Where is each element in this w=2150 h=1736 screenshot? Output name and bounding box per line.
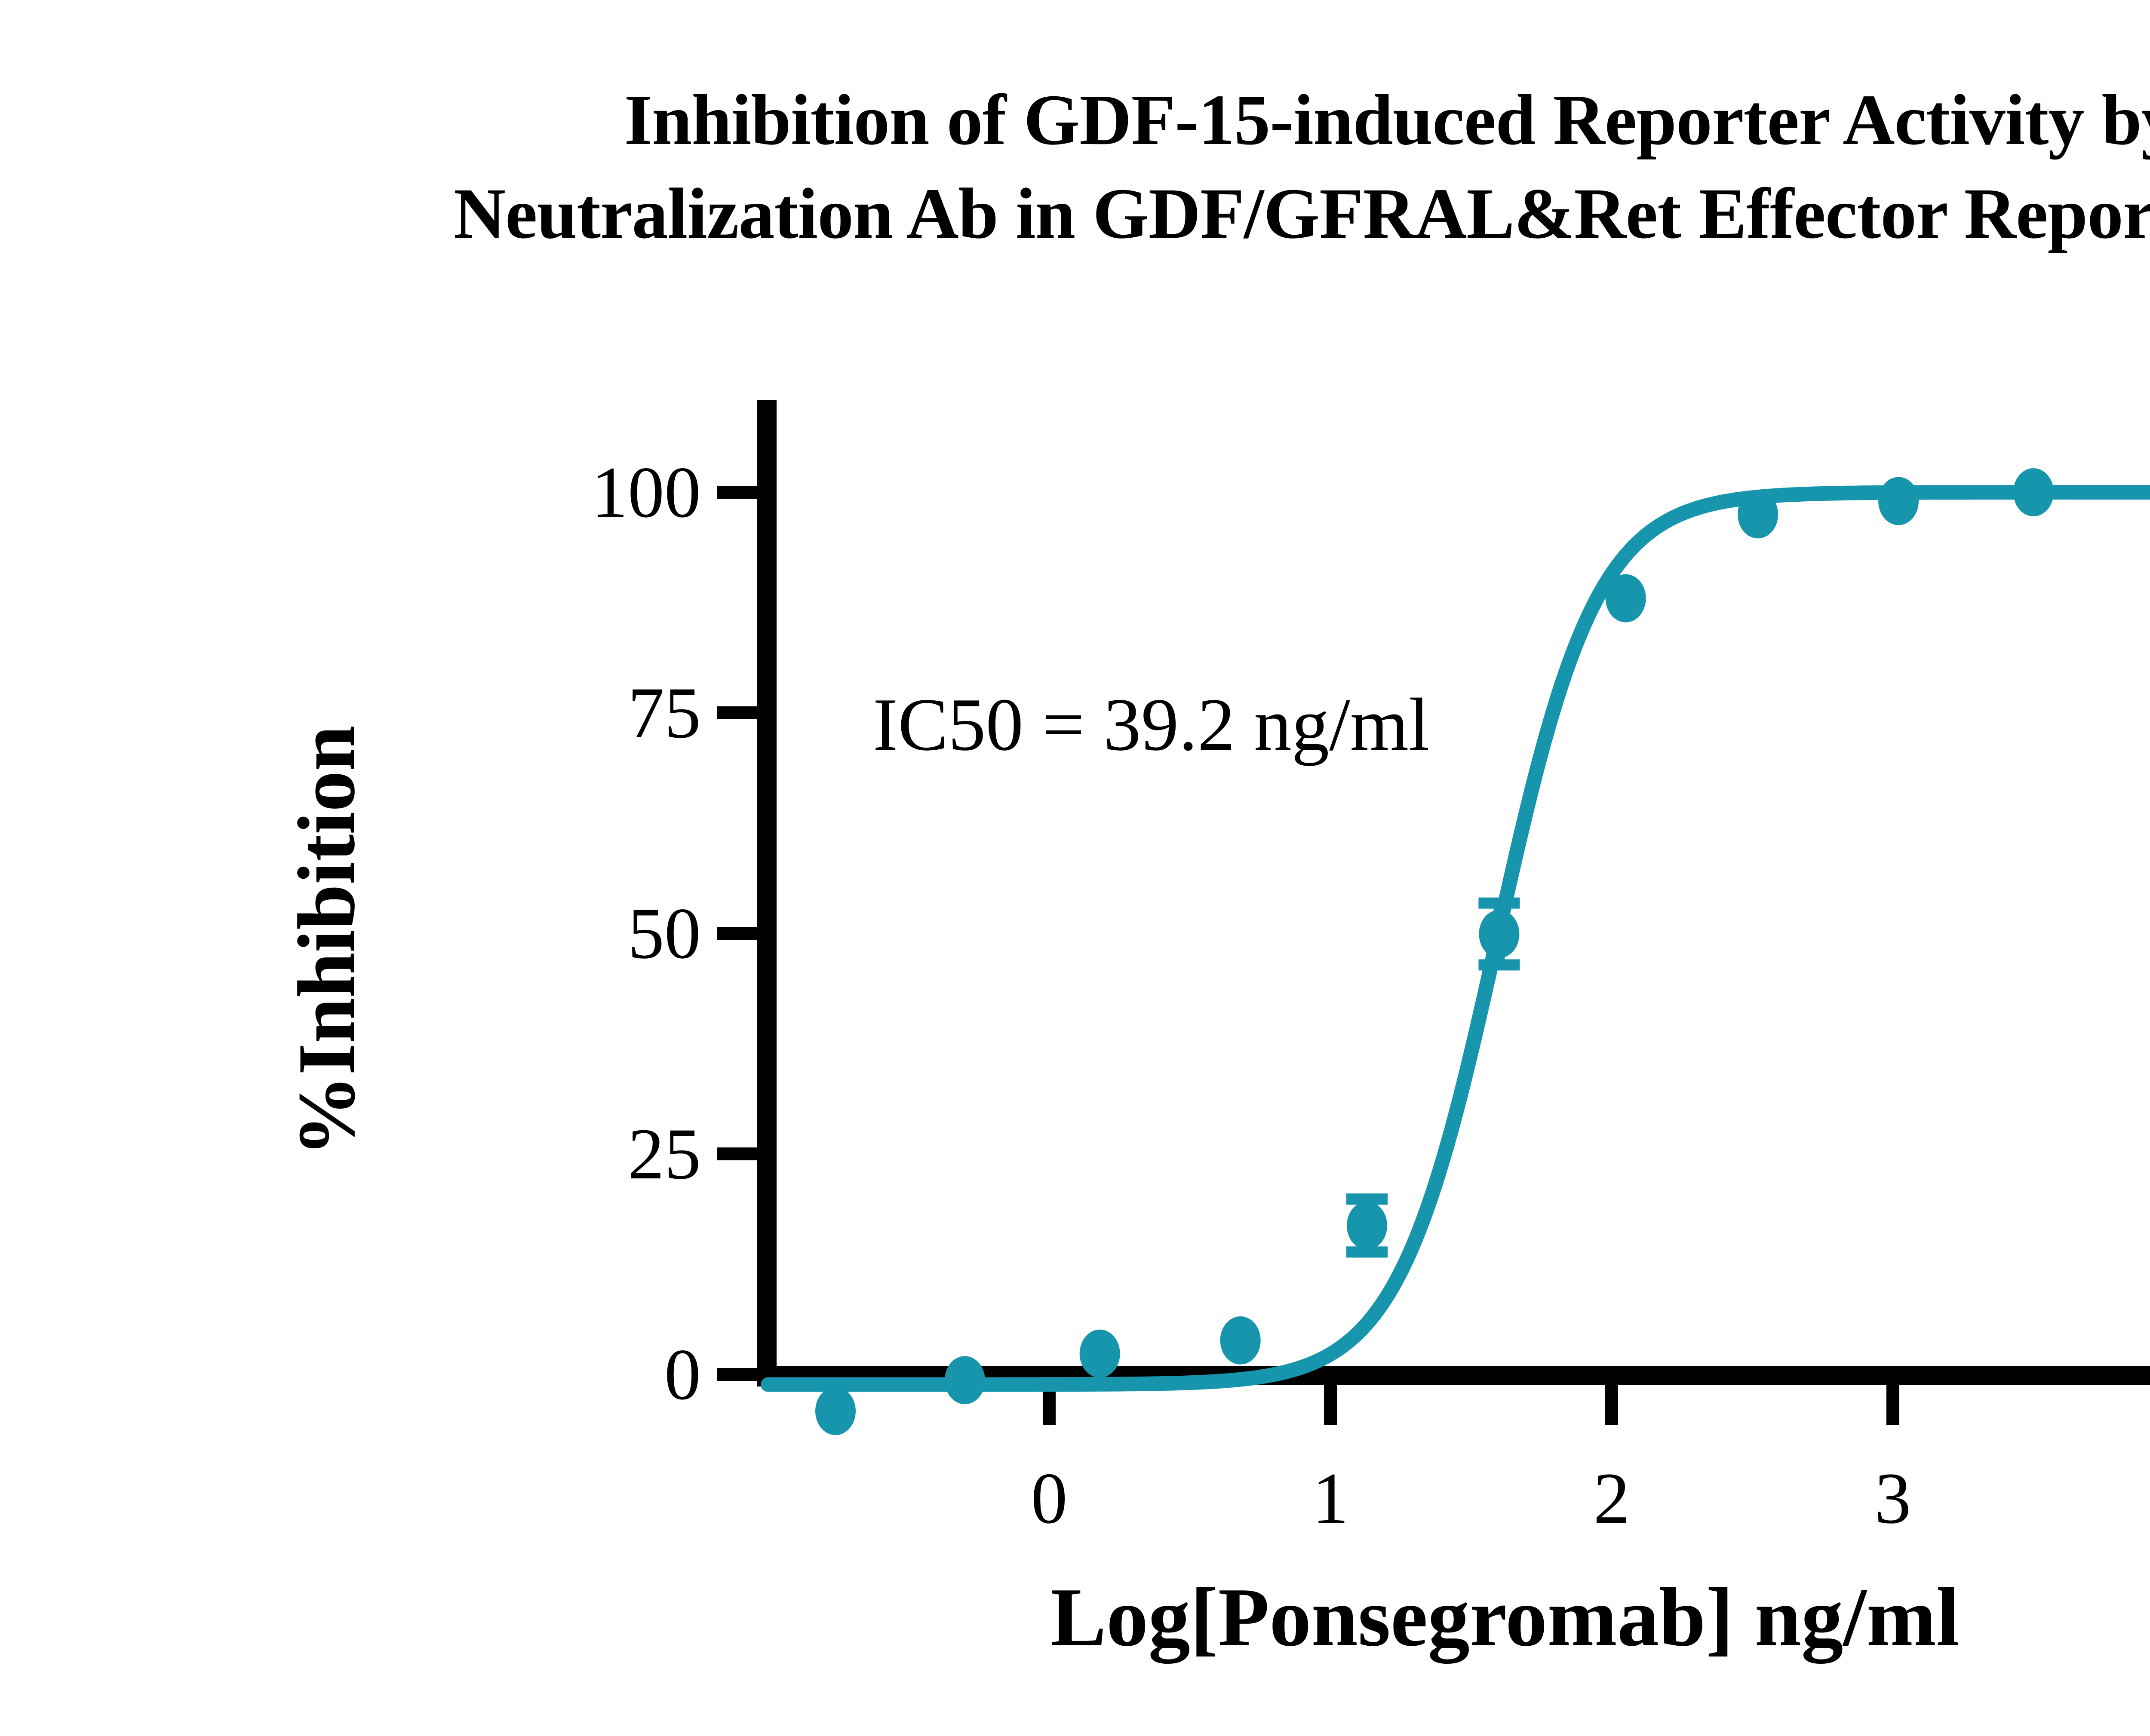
data-markers-group — [815, 468, 2150, 1435]
data-point-marker — [1479, 910, 1519, 958]
data-point-marker — [1347, 1202, 1387, 1250]
data-point-marker — [1738, 490, 1778, 538]
data-point-marker — [945, 1356, 985, 1404]
data-point-marker — [1878, 477, 1919, 525]
plot-area: 100 75 50 25 0 0 1 2 3 4 %Inhibition Log… — [0, 0, 2150, 1736]
data-point-marker — [1080, 1330, 1120, 1378]
data-point-marker — [1606, 574, 1646, 623]
data-point-marker — [815, 1387, 856, 1435]
data-point-marker — [2013, 468, 2054, 516]
chart-figure: Inhibition of GDF-15-induced Reporter Ac… — [0, 0, 2150, 1736]
data-point-marker — [1220, 1316, 1261, 1365]
fit-curve — [768, 492, 2150, 1385]
data-layer — [0, 0, 2150, 1736]
